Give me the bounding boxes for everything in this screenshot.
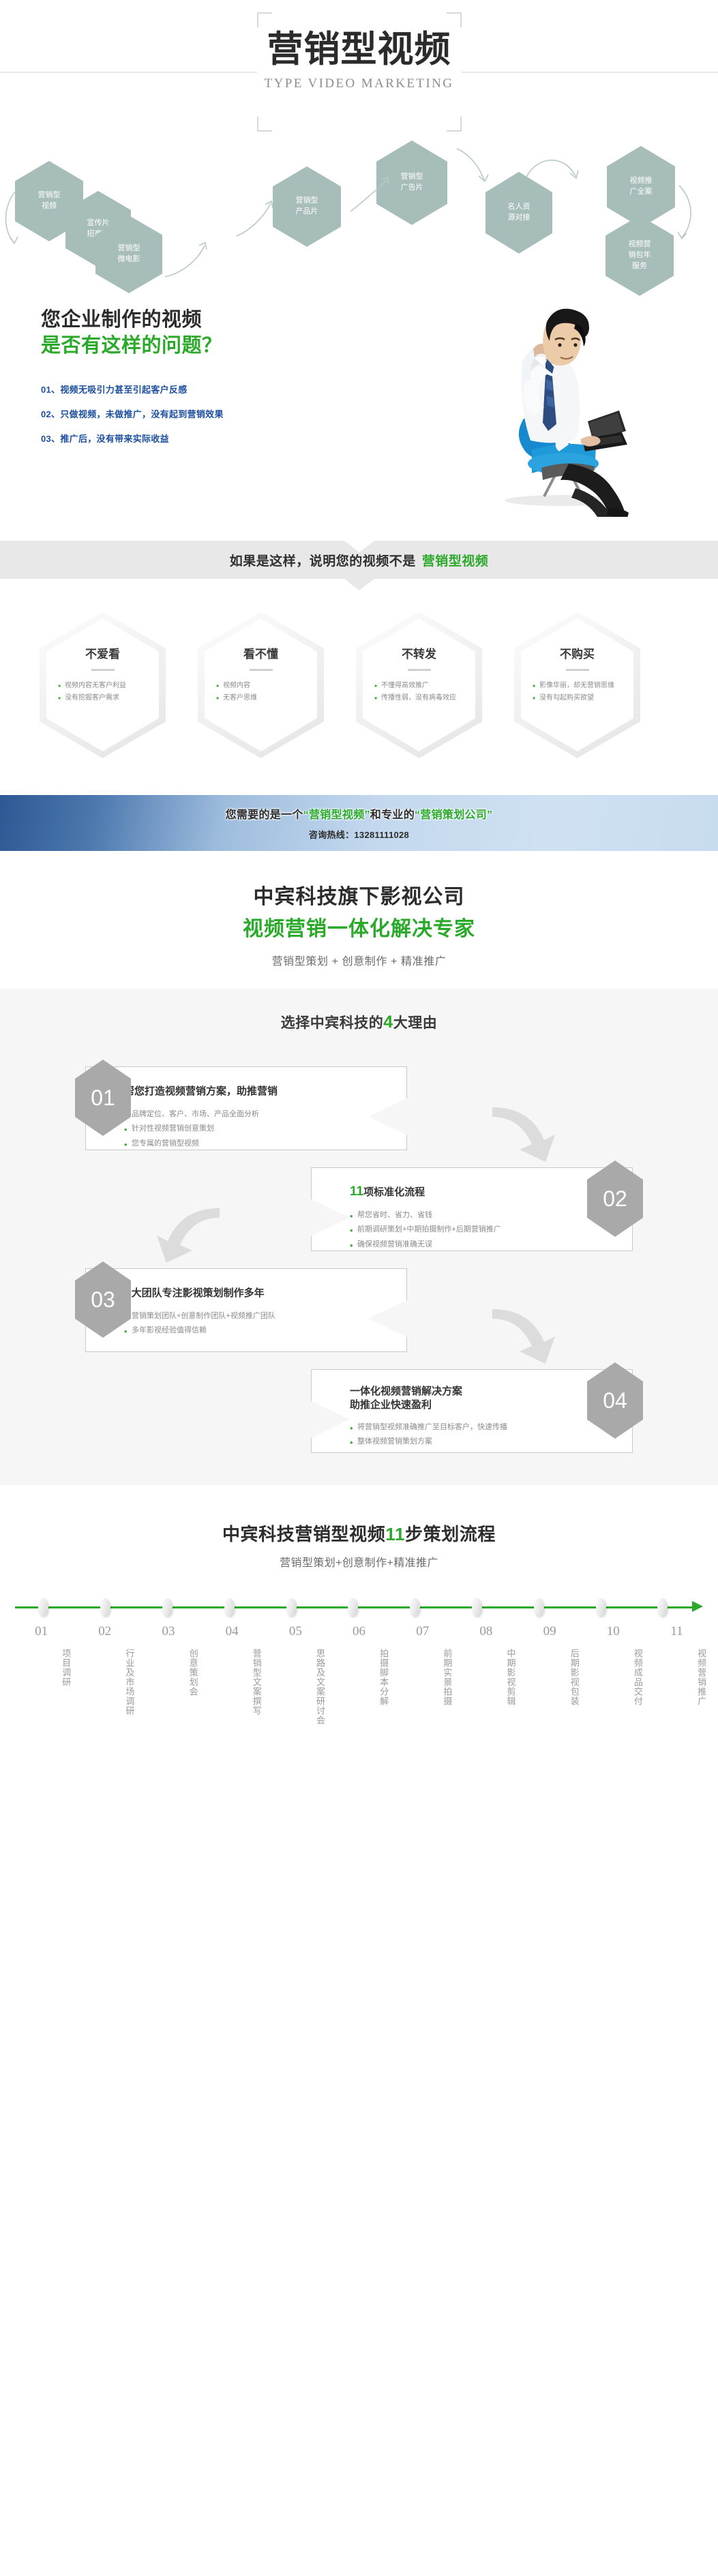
hex-label-line2: 产品片 xyxy=(296,207,318,215)
problem-hex-divider xyxy=(250,669,273,671)
problem-hex-bullet: 没有挖掘客户需求 xyxy=(57,692,148,704)
problem-hex-title: 不爱看 xyxy=(57,644,148,661)
flow-number: 03 xyxy=(136,1624,200,1639)
hex-label-line1: 营销型 xyxy=(38,191,61,199)
reason-row-03: 03 3大团队专注影视策划制作多年 营销策划团队+创意制作团队+视频推广团队 多… xyxy=(0,1252,718,1353)
problem-hex-divider xyxy=(408,669,431,671)
reason-card-02[interactable]: 11项标准化流程 帮您省时、省力、省钱 前期调研策划+中期拍摄制作+后期营销推广… xyxy=(311,1167,633,1251)
problem-hex-title: 不购买 xyxy=(532,644,623,661)
hex-label-line3: 服务 xyxy=(632,262,647,270)
flow-step-label: 视频营销推广 xyxy=(645,1649,708,1706)
reason-bullet: 品牌定位、客户、市场、产品全面分析 xyxy=(124,1107,406,1122)
page-subtitle-en: TYPE VIDEO MARKETING xyxy=(257,76,462,91)
reasons-heading-number: 4 xyxy=(383,1013,393,1032)
problem-hex-3[interactable]: 不购买 影像华丽，却无营销思维 没有勾起购买欲望 xyxy=(514,612,640,758)
flow-step-label: 视频成品交付 xyxy=(582,1649,645,1706)
hex-label-line1: 营销型 xyxy=(118,244,140,252)
flow-number: 09 xyxy=(518,1624,582,1639)
flow-number: 06 xyxy=(327,1624,391,1639)
reason-bullet: 您专属的营销型视频 xyxy=(124,1137,406,1151)
flow-node-04[interactable] xyxy=(224,1598,235,1616)
process-flow-section: 中宾科技营销型视频11步策划流程 营销型策划+创意制作+精准推广 01 02 0… xyxy=(0,1485,718,1752)
reasons-rows: 01 帮您打造视频营销方案，助推营销 品牌定位、客户、市场、产品全面分析 针对性… xyxy=(0,1050,718,1454)
cta-quote-1: “营销型视频” xyxy=(303,809,370,821)
hex-label-line1: 营销型 xyxy=(401,173,423,181)
flow-number: 08 xyxy=(454,1624,518,1639)
flow-node-06[interactable] xyxy=(348,1598,358,1616)
hex-label-line2: 视频 xyxy=(42,202,57,210)
flow-heading-number: 11 xyxy=(385,1524,405,1544)
problem-section: 您企业制作的视频 是否有这样的问题？ 01、视频无吸引力甚至引起客户反感 02、… xyxy=(0,280,718,522)
flow-arc-2-icon xyxy=(164,239,211,280)
problem-hex-bullet: 不懂得高效推广 xyxy=(374,680,464,692)
problem-hexagon-group: 不爱看 视频内容无客户利益 没有挖掘客户需求 看不懂 视频内容 无客户思维 不转… xyxy=(0,612,718,758)
problem-hex-inner: 不转发 不懂得高效推广 传播性弱，没有病毒效应 xyxy=(363,618,475,751)
flow-timeline-track xyxy=(15,1597,703,1617)
problem-hex-bullet: 没有勾起购买欲望 xyxy=(532,692,623,704)
company-intro: 中宾科技旗下影视公司 视频营销一体化解决专家 营销型策划 + 创意制作 + 精准… xyxy=(0,851,718,989)
flow-number-row: 01 02 03 04 05 06 07 08 09 10 11 xyxy=(10,1624,708,1639)
flow-step-label: 后期影视包装 xyxy=(518,1649,582,1706)
reason-bullet: 针对性视频营销创意策划 xyxy=(124,1122,406,1136)
problem-hex-bullet: 无客户思维 xyxy=(215,692,306,704)
cta-hotline[interactable]: 咨询热线：13281111028 xyxy=(309,828,409,841)
flow-step-label: 营销型文案撰写 xyxy=(200,1649,264,1716)
flow-number: 07 xyxy=(391,1624,454,1639)
hex-label-line2: 广全案 xyxy=(630,188,653,196)
problem-hex-1[interactable]: 看不懂 视频内容 无客户思维 xyxy=(198,612,324,758)
hex-label-line1: 名人资 xyxy=(508,203,530,211)
problem-hex-title: 不转发 xyxy=(374,644,464,661)
flow-number: 04 xyxy=(200,1624,264,1639)
flow-node-07[interactable] xyxy=(410,1598,420,1616)
reason-title-text: 帮您打造视频营销方案，助推营销 xyxy=(124,1085,278,1097)
flow-arc-4-icon xyxy=(349,176,393,215)
landing-page: 营销型视频 TYPE VIDEO MARKETING 营销型 视频 宣传片 招商… xyxy=(0,0,718,1752)
hex-label-line2: 微电影 xyxy=(118,255,140,263)
flow-arc-6-icon xyxy=(525,147,580,185)
reason-title-text: 大团队专注影视策划制作多年 xyxy=(132,1287,265,1299)
hex-label-line1: 营销型 xyxy=(296,196,318,205)
company-services: 营销型策划 + 创意制作 + 精准推广 xyxy=(0,952,718,968)
reason-row-01: 01 帮您打造视频营销方案，助推营销 品牌定位、客户、市场、产品全面分析 针对性… xyxy=(0,1050,718,1151)
reason-swoop-arrow-1-icon xyxy=(488,1103,563,1171)
flow-number: 02 xyxy=(73,1624,136,1639)
corner-bracket-top-left-icon xyxy=(257,12,272,27)
flow-node-05[interactable] xyxy=(286,1598,297,1616)
cta-headline: 您需要的是一个“营销型视频”和专业的“营销策划公司” xyxy=(226,805,493,822)
flow-node-09[interactable] xyxy=(534,1598,544,1616)
flow-number: 11 xyxy=(645,1624,708,1639)
flow-arc-7-icon xyxy=(674,183,697,244)
flow-step-label: 行业及市场调研 xyxy=(73,1649,136,1716)
problem-hex-inner: 看不懂 视频内容 无客户思维 xyxy=(205,618,317,751)
reason-title-text-2: 助推企业快速盈利 xyxy=(350,1399,432,1411)
flow-step-label: 创意策划会 xyxy=(136,1649,200,1696)
problem-hex-0[interactable]: 不爱看 视频内容无客户利益 没有挖掘客户需求 xyxy=(40,612,166,758)
reason-bullet: 营销策划团队+创意制作团队+视频推广团队 xyxy=(124,1309,406,1323)
problem-hex-divider xyxy=(91,669,115,671)
flow-number: 01 xyxy=(10,1624,73,1639)
page-header: 营销型视频 TYPE VIDEO MARKETING xyxy=(0,0,718,150)
hex-label-line2: 广告片 xyxy=(401,183,423,192)
hex-label-line1: 宣传片 xyxy=(87,219,110,227)
reason-title-text: 项标准化流程 xyxy=(363,1186,425,1198)
reason-swoop-arrow-3-icon xyxy=(488,1305,563,1373)
reason-row-02: 02 11项标准化流程 帮您省时、省力、省钱 前期调研策划+中期拍摄制作+后期营… xyxy=(0,1151,718,1252)
problem-hex-bullet: 视频内容 xyxy=(215,680,306,692)
reason-row-04: 04 一体化视频营销解决方案助推企业快速盈利 将营销型视频准确推广至目标客户，快… xyxy=(0,1353,718,1454)
reasons-heading-pre: 选择中宾科技的 xyxy=(281,1015,384,1031)
flow-arc-3-icon xyxy=(235,199,276,240)
cta-quote-2: “营销策划公司” xyxy=(415,809,492,821)
flow-label-row: 项目调研 行业及市场调研 创意策划会 营销型文案撰写 思路及文案研讨会 拍摄脚本… xyxy=(10,1649,708,1725)
problem-hex-bullet: 视频内容无客户利益 xyxy=(57,680,148,692)
flow-heading-pre: 中宾科技营销型视频 xyxy=(222,1524,385,1544)
reason-title: 3大团队专注影视策划制作多年 xyxy=(124,1284,406,1302)
cta-pre: 您需要的是一个 xyxy=(226,809,303,821)
reason-card-03[interactable]: 3大团队专注影视策划制作多年 营销策划团队+创意制作团队+视频推广团队 多年影视… xyxy=(85,1268,407,1352)
reason-bullet: 整体视频营销策划方案 xyxy=(350,1435,632,1449)
problem-hex-inner: 不爱看 视频内容无客户利益 没有挖掘客户需求 xyxy=(46,618,159,751)
flow-step-label: 项目调研 xyxy=(10,1649,73,1687)
reason-bullet: 前期调研策划+中期拍摄制作+后期营销推广 xyxy=(350,1223,632,1237)
flow-arc-1-icon xyxy=(1,188,22,249)
flow-step-label: 思路及文案研讨会 xyxy=(264,1649,327,1725)
reason-bullet: 多年影视经验值得信赖 xyxy=(124,1323,406,1338)
gray-banner-highlight: 营销型视频 xyxy=(422,554,489,569)
hex-item-6[interactable]: 视频推 广全案 xyxy=(607,146,675,228)
problem-hex-divider xyxy=(566,669,589,671)
corner-bracket-bottom-right-icon xyxy=(447,117,462,132)
problem-hex-bullet: 影像华丽，却无营销思维 xyxy=(532,680,623,692)
problem-hex-bullet: 传播性弱，没有病毒效应 xyxy=(374,692,464,704)
flow-step-label: 前期实景拍摄 xyxy=(391,1649,454,1706)
cta-mid: 和专业的 xyxy=(370,809,415,821)
gray-banner: 如果是这样，说明您的视频不是营销型视频 xyxy=(0,541,718,579)
hex-label-line2: 销包年 xyxy=(629,251,651,259)
corner-bracket-top-right-icon xyxy=(447,12,462,27)
service-hexagon-flow: 营销型 视频 宣传片 招商片 营销型 微电影 营销型 产品片 营销型 广告片 名… xyxy=(0,150,718,280)
hex-label-line1: 视频推 xyxy=(630,177,653,185)
reason-bullet: 确保视频营销准确无误 xyxy=(350,1238,632,1252)
problem-hex-inner: 不购买 影像华丽，却无营销思维 没有勾起购买欲望 xyxy=(521,618,633,751)
flow-heading: 中宾科技营销型视频11步策划流程 xyxy=(0,1521,718,1546)
hex-item-3[interactable]: 营销型 产品片 xyxy=(273,166,341,247)
reasons-heading-post: 大理由 xyxy=(393,1015,438,1031)
flow-node-02[interactable] xyxy=(100,1598,110,1616)
hex-label-line2: 源对接 xyxy=(508,213,530,222)
corner-bracket-bottom-left-icon xyxy=(257,117,272,132)
cta-blue-banner: 您需要的是一个“营销型视频”和专业的“营销策划公司” 咨询热线：13281111… xyxy=(0,795,718,851)
flow-node-03[interactable] xyxy=(162,1598,173,1616)
page-title: 营销型视频 xyxy=(257,27,462,72)
problem-hex-title: 看不懂 xyxy=(215,644,306,661)
reason-card-01[interactable]: 帮您打造视频营销方案，助推营销 品牌定位、客户、市场、产品全面分析 针对性视频营… xyxy=(85,1066,407,1150)
problem-hex-2[interactable]: 不转发 不懂得高效推广 传播性弱，没有病毒效应 xyxy=(356,612,482,758)
gray-banner-main: 如果是这样，说明您的视频不是 xyxy=(230,554,416,569)
flow-node-11[interactable] xyxy=(657,1598,668,1616)
reason-bullet: 将营销型视频准确推广至目标客户，快速传播 xyxy=(350,1420,632,1435)
flow-node-01[interactable] xyxy=(38,1598,48,1616)
flow-heading-post: 步策划流程 xyxy=(405,1524,496,1544)
reason-card-04[interactable]: 一体化视频营销解决方案助推企业快速盈利 将营销型视频准确推广至目标客户，快速传播… xyxy=(311,1369,633,1453)
flow-subheading: 营销型策划+创意制作+精准推广 xyxy=(0,1553,718,1570)
flow-number: 05 xyxy=(264,1624,327,1639)
reason-title-text: 一体化视频营销解决方案 xyxy=(350,1386,462,1397)
flow-step-label: 中期影视剪辑 xyxy=(454,1649,518,1706)
flow-timeline-arrowhead-icon xyxy=(692,1601,703,1612)
flow-number: 10 xyxy=(582,1624,645,1639)
hex-label-line1: 视频营 xyxy=(629,240,651,248)
reasons-heading: 选择中宾科技的4大理由 xyxy=(0,1012,718,1032)
header-title-box: 营销型视频 TYPE VIDEO MARKETING xyxy=(257,12,462,132)
company-tagline: 视频营销一体化解决专家 xyxy=(0,912,718,942)
reasons-section: 选择中宾科技的4大理由 01 帮您打造视频营销方案，助推营销 品牌定位、客户、市… xyxy=(0,989,718,1485)
reason-title: 帮您打造视频营销方案，助推营销 xyxy=(124,1082,406,1100)
reason-swoop-arrow-2-icon xyxy=(149,1204,224,1272)
flow-step-label: 拍摄脚本分解 xyxy=(327,1649,391,1706)
businessman-photo xyxy=(442,292,646,517)
flow-node-10[interactable] xyxy=(596,1598,606,1616)
flow-node-08[interactable] xyxy=(472,1598,482,1616)
company-name: 中宾科技旗下影视公司 xyxy=(0,880,718,910)
flow-arc-5-icon xyxy=(454,146,500,184)
gray-banner-text: 如果是这样，说明您的视频不是营销型视频 xyxy=(230,551,489,569)
reason-title-number: 11 xyxy=(350,1184,363,1199)
